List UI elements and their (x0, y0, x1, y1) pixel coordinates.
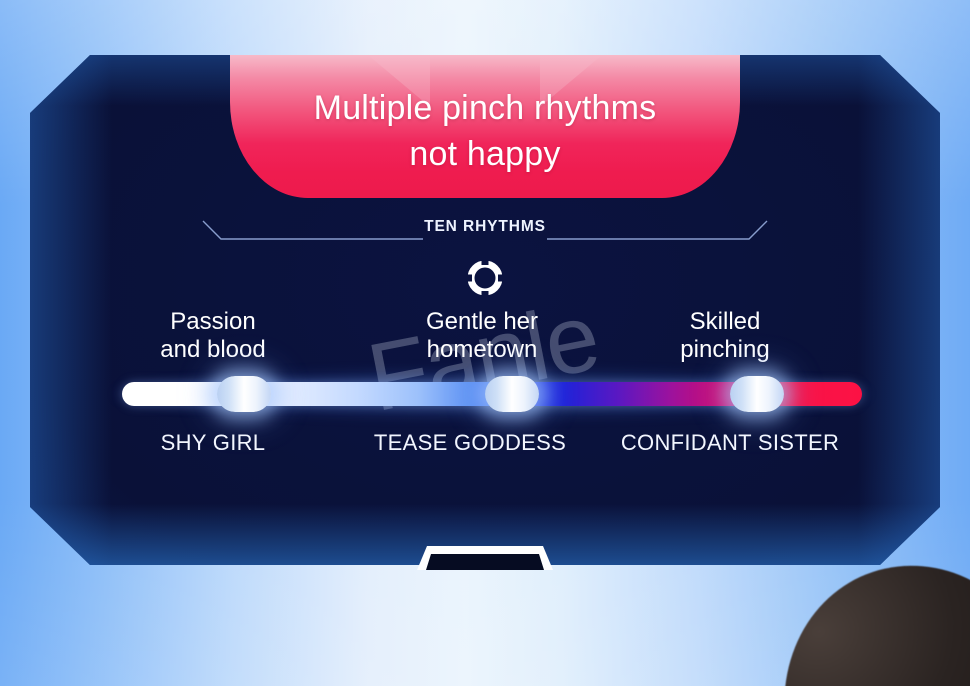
level-top-label-2-line-1: Skilled (610, 308, 840, 336)
level-bottom-label-1: TEASE GODDESS (340, 430, 600, 456)
slider-thumb-1[interactable] (485, 376, 539, 412)
level-bottom-label-0: SHY GIRL (83, 430, 343, 456)
slider-thumb-0[interactable] (217, 376, 271, 412)
feature-card: Multiple pinch rhythms not happy TEN RHY… (30, 55, 940, 565)
level-top-label-1-line-2: hometown (367, 336, 597, 364)
level-top-label-0-line-2: and blood (98, 336, 328, 364)
intensity-slider[interactable] (122, 377, 862, 411)
level-top-label-0: Passion and blood (98, 308, 328, 364)
slider-thumb-2[interactable] (730, 376, 784, 412)
title-line-1: Multiple pinch rhythms (314, 89, 657, 127)
reticle-target-icon (465, 258, 505, 298)
section-subtitle: TEN RHYTHMS (30, 218, 940, 236)
level-top-label-1-line-1: Gentle her (367, 308, 597, 336)
page-title: Multiple pinch rhythms not happy (30, 85, 940, 177)
level-top-label-1: Gentle her hometown (367, 308, 597, 364)
level-top-label-0-line-1: Passion (98, 308, 328, 336)
title-line-2: not happy (30, 131, 940, 177)
level-bottom-label-2: CONFIDANT SISTER (600, 430, 860, 456)
level-top-label-2-line-2: pinching (610, 336, 840, 364)
level-top-label-2: Skilled pinching (610, 308, 840, 364)
card-bottom-tab-inner (426, 554, 544, 570)
poster-canvas: Multiple pinch rhythms not happy TEN RHY… (0, 0, 970, 686)
